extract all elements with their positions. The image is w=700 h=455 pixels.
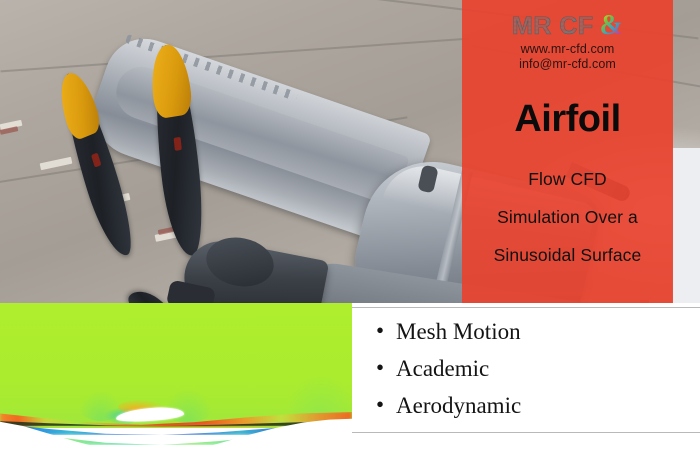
- subtitle-line-1: Flow CFD: [466, 160, 669, 198]
- page-title: Airfoil: [462, 98, 673, 141]
- tarmac-marking: [40, 157, 73, 171]
- page-subtitle: Flow CFD Simulation Over a Sinusoidal Su…: [466, 160, 669, 274]
- contact-block: www.mr-cfd.com info@mr-cfd.com: [462, 42, 673, 72]
- photo-pale-strip: [672, 148, 700, 304]
- logo-wordmark: MR CF: [512, 12, 594, 41]
- subtitle-line-2: Simulation Over a: [466, 198, 669, 236]
- cfd-contour-image: [0, 303, 352, 455]
- list-item: Aerodynamic: [396, 387, 521, 424]
- subtitle-line-3: Sinusoidal Surface: [466, 236, 669, 274]
- poster-root: MR CF & www.mr-cfd.com info@mr-cfd.com A…: [0, 0, 700, 455]
- email-link[interactable]: info@mr-cfd.com: [462, 57, 673, 72]
- brand-logo[interactable]: MR CF &: [466, 8, 669, 44]
- list-item: Academic: [396, 350, 521, 387]
- logo-ampersand-icon: &: [600, 12, 623, 40]
- website-link[interactable]: www.mr-cfd.com: [462, 42, 673, 57]
- divider-top: [352, 307, 700, 308]
- list-item: Mesh Motion: [396, 313, 521, 350]
- feature-list: Mesh Motion Academic Aerodynamic: [372, 313, 521, 424]
- divider-bottom: [352, 432, 700, 433]
